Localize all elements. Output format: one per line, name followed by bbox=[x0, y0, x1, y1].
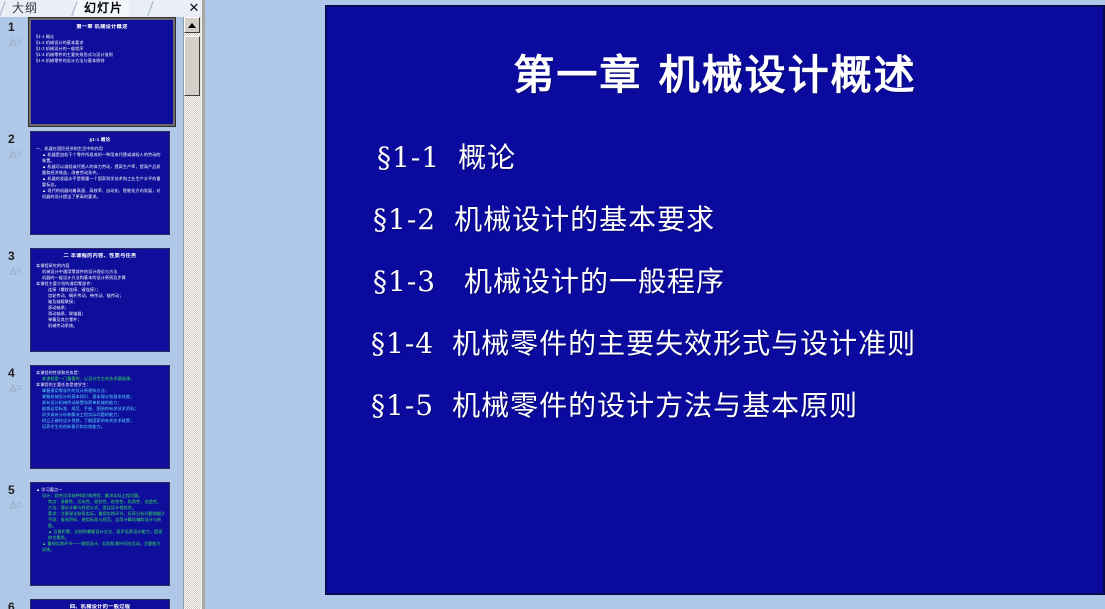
mini-slide-content: 二 本课程的内容、性质与任务 本课程研究的内容 机械设计中通用零部件的设计理论与… bbox=[31, 249, 169, 351]
animation-icon bbox=[8, 499, 22, 512]
thumbnail-preview[interactable]: §1-1 概论 一、机器在国民经济和生活中的作用 ▲ 机器是由若干个零件所组成的… bbox=[30, 131, 170, 235]
animation-icon bbox=[8, 382, 22, 395]
bullet-section-label: §1-1 bbox=[377, 141, 440, 174]
bullet-section-label: §1-3 bbox=[373, 265, 436, 298]
slide-body[interactable]: §1-1概论 §1-2机械设计的基本要求 §1-3 机械设计的一般程序 §1-4… bbox=[369, 127, 1085, 437]
tab-slides-label: 幻灯片 bbox=[84, 1, 123, 15]
thumbnail-preview[interactable]: ▲ 学习要点一 设计：综合运用各种知识和经验，解决实际工程问题。 特点：多解性、… bbox=[30, 482, 170, 586]
mini-slide-content: 四、机械设计的一般过程 bbox=[31, 600, 169, 609]
slide-bullet-2[interactable]: §1-2机械设计的基本要求 bbox=[369, 189, 1085, 251]
animation-icon bbox=[8, 36, 22, 49]
animation-icon bbox=[8, 265, 22, 278]
tab-separator-icon bbox=[147, 1, 162, 16]
mini-title: 第一章 机械设计概述 bbox=[36, 24, 168, 31]
animation-icon bbox=[8, 148, 22, 161]
mini-line: ▲ 机器的发展水平是衡量一个国家科学技术和工业生产水平的重要标志。 bbox=[36, 176, 164, 188]
mini-slide-content: 第一章 机械设计概述 §1-1 概论 §1-2 机械设计的基本要求 §1-3 机… bbox=[31, 20, 173, 124]
thumbnail-item-2[interactable]: 2 §1-1 概论 一、机器在国民经济和生活中的作用 ▲ 机器是由若干个零件所组… bbox=[0, 129, 183, 246]
thumbnail-preview[interactable]: 本课程的性质和任务是： 本课程是一门重要的、以设计为主的技术基础课。 本课程的主… bbox=[30, 365, 170, 469]
pane-tabstrip: 大纲 幻灯片 ✕ bbox=[0, 0, 205, 18]
slide-bullet-3[interactable]: §1-3 机械设计的一般程序 bbox=[369, 251, 1085, 313]
bullet-text: 机械零件的设计方法与基本原则 bbox=[452, 389, 858, 422]
mini-slide-content: §1-1 概论 一、机器在国民经济和生活中的作用 ▲ 机器是由若干个零件所组成的… bbox=[31, 132, 169, 234]
thumbnail-number: 2 bbox=[8, 132, 26, 146]
mini-line: ▲ 机器是由若干个零件所组成的一种用来代替或减轻人的劳动的装置。 bbox=[36, 152, 164, 164]
thumbnail-item-6[interactable]: 6 四、机械设计的一般过程 bbox=[0, 597, 183, 609]
mini-line: 培养学生的创新意识和实践能力。 bbox=[36, 424, 164, 430]
slide-editing-area: 第一章 机械设计概述 §1-1概论 §1-2机械设计的基本要求 §1-3 机械设… bbox=[206, 0, 1105, 609]
slide-thumbnail-list[interactable]: 1 第一章 机械设计概述 §1-1 概论 §1-2 机械设计的基本要求 §1-3… bbox=[0, 17, 183, 609]
thumbnail-number: 5 bbox=[8, 483, 26, 497]
thumbnail-preview[interactable]: 第一章 机械设计概述 §1-1 概论 §1-2 机械设计的基本要求 §1-3 机… bbox=[29, 18, 175, 126]
thumbnail-number: 6 bbox=[8, 600, 26, 609]
thumbnail-number: 3 bbox=[8, 249, 26, 263]
bullet-text: 机械设计的基本要求 bbox=[454, 203, 715, 236]
thumbnail-item-4[interactable]: 4 本课程的性质和任务是： 本课程是一门重要的、以设计为主的技术基础课。 本课程… bbox=[0, 363, 183, 480]
mini-title: 二 本课程的内容、性质与任务 bbox=[36, 253, 164, 260]
mini-title: §1-1 概论 bbox=[36, 136, 164, 143]
slide-title[interactable]: 第一章 机械设计概述 bbox=[327, 41, 1103, 101]
bullet-section-label: §1-4 bbox=[371, 327, 434, 360]
slide-bullet-5[interactable]: §1-5机械零件的设计方法与基本原则 bbox=[369, 375, 1085, 437]
bullet-text: 机械零件的主要失效形式与设计准则 bbox=[452, 327, 916, 360]
bullet-section-label: §1-2 bbox=[373, 203, 436, 236]
mini-title: 四、机械设计的一般过程 bbox=[36, 604, 164, 609]
mini-line: 机械传动系统。 bbox=[36, 323, 164, 329]
chevron-up-icon bbox=[188, 23, 196, 28]
thumbnail-preview[interactable]: 二 本课程的内容、性质与任务 本课程研究的内容 机械设计中通用零部件的设计理论与… bbox=[30, 248, 170, 352]
tab-outline[interactable]: 大纲 bbox=[2, 0, 44, 17]
mini-line: ▲ 注意积累、总结和掌握设计方法，逐步培养设计能力，提高综合素质。 bbox=[36, 529, 164, 541]
bullet-text: 机械设计的一般程序 bbox=[454, 265, 725, 298]
tab-outline-label: 大纲 bbox=[12, 1, 38, 15]
slide-bullet-4[interactable]: §1-4机械零件的主要失效形式与设计准则 bbox=[369, 313, 1085, 375]
thumbnail-item-1[interactable]: 1 第一章 机械设计概述 §1-1 概论 §1-2 机械设计的基本要求 §1-3… bbox=[0, 17, 183, 134]
slide-bullet-1[interactable]: §1-1概论 bbox=[369, 127, 1085, 189]
thumbnail-preview[interactable]: 四、机械设计的一般过程 bbox=[30, 599, 170, 609]
mini-slide-content: ▲ 学习要点一 设计：综合运用各种知识和经验，解决实际工程问题。 特点：多解性、… bbox=[31, 483, 169, 585]
scrollbar-thumb[interactable] bbox=[184, 36, 200, 96]
mini-line: §1-5 机械零件的设计方法与基本原则 bbox=[36, 58, 168, 64]
scroll-up-button[interactable] bbox=[184, 17, 200, 33]
tab-slides[interactable]: 幻灯片 bbox=[74, 0, 129, 17]
mini-line: ▲ 现代的机器向着高速、高效率、自动化、智能化方向发展，对机器的设计提出了更高的… bbox=[36, 188, 164, 200]
thumbnail-item-5[interactable]: 5 ▲ 学习要点一 设计：综合运用各种知识和经验，解决实际工程问题。 特点：多解… bbox=[0, 480, 183, 597]
mini-line: ▲ 重视实践环节——课程设计、实验和课外科技活动，注重能力训练。 bbox=[36, 541, 164, 553]
mini-line: ▲ 机器可以减轻或代替人的体力劳动，提高生产率，提高产品质量和经济效益，改善劳动… bbox=[36, 164, 164, 176]
slides-outline-pane: 大纲 幻灯片 ✕ 1 第一章 机 bbox=[0, 0, 205, 609]
thumbnail-item-3[interactable]: 3 二 本课程的内容、性质与任务 本课程研究的内容 机械设计中通用零部件的设计理… bbox=[0, 246, 183, 363]
current-slide[interactable]: 第一章 机械设计概述 §1-1概论 §1-2机械设计的基本要求 §1-3 机械设… bbox=[325, 5, 1105, 595]
thumbnail-number: 4 bbox=[8, 366, 26, 380]
pane-splitter[interactable] bbox=[201, 0, 205, 609]
thumbnail-scrollbar[interactable] bbox=[183, 17, 201, 609]
bullet-text: 概论 bbox=[458, 141, 516, 174]
powerpoint-editor-window: 大纲 幻灯片 ✕ 1 第一章 机 bbox=[0, 0, 1105, 609]
mini-slide-content: 本课程的性质和任务是： 本课程是一门重要的、以设计为主的技术基础课。 本课程的主… bbox=[31, 366, 169, 468]
bullet-section-label: §1-5 bbox=[371, 389, 434, 422]
thumbnail-number: 1 bbox=[8, 20, 26, 34]
mini-line: 手段：查阅资料、使用标准与规范、运用计算机辅助设计与绘图。 bbox=[36, 517, 164, 529]
